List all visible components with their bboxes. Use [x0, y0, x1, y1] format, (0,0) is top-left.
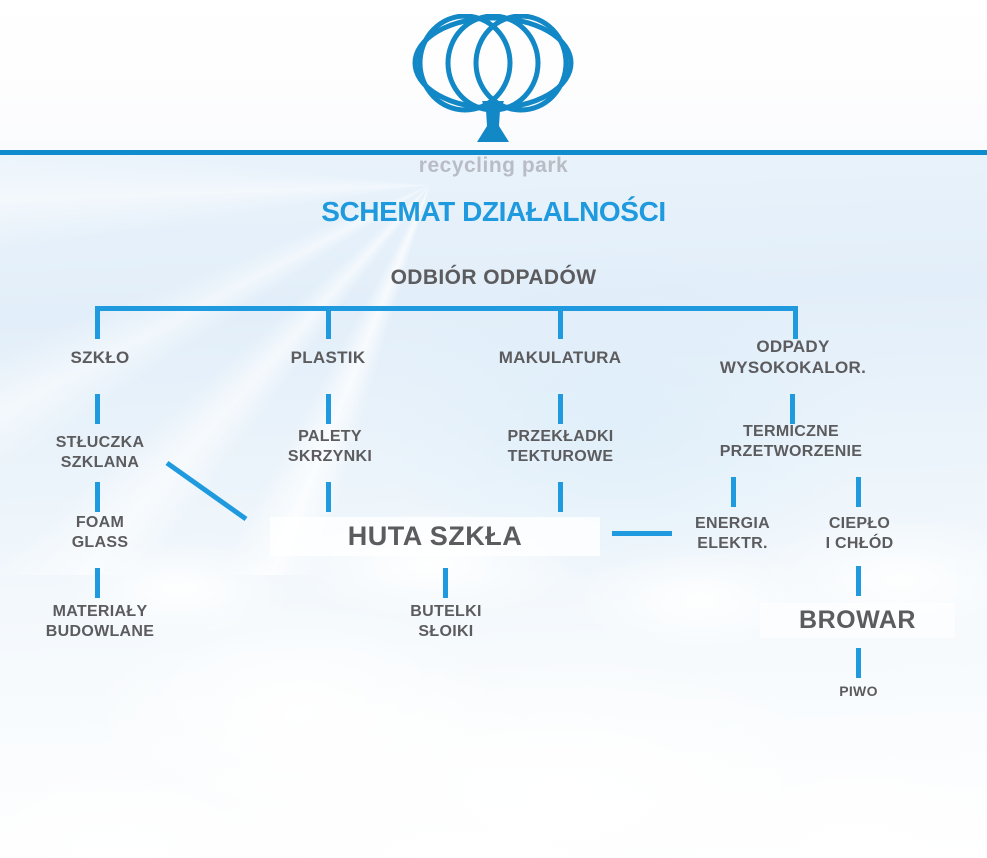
node-odpady-wysokokalor: ODPADY WYSOKOKALOR. — [693, 337, 893, 378]
connector-szklo-to-stluczka — [95, 394, 100, 424]
connector-root-to-plastik — [326, 306, 331, 339]
connector-termiczne-to-energia — [731, 477, 736, 507]
node-makulatura: MAKULATURA — [470, 348, 650, 369]
node-przekladki-tekturowe: PRZEKŁADKI TEKTUROWE — [473, 427, 648, 466]
node-piwo: PIWO — [786, 683, 931, 700]
connector-foamglass-to-materialy — [95, 568, 100, 598]
page-root: recycling park SCHEMAT DZIAŁALNOŚCI ODBI… — [0, 0, 987, 858]
connector-odpady-to-termiczne — [790, 394, 795, 424]
node-szklo: SZKŁO — [30, 348, 170, 369]
root-horizontal-connector — [95, 306, 798, 311]
connector-cieplo-to-browar — [856, 566, 861, 596]
connector-makulatura-to-przekladki — [558, 394, 563, 424]
connector-root-to-odpady — [793, 306, 798, 339]
connector-huta-to-butelki — [443, 568, 448, 598]
connector-przekladki-to-huta — [558, 482, 563, 512]
node-foam-glass: FOAM GLASS — [20, 513, 180, 552]
connector-stluczka-to-foamglass — [95, 482, 100, 512]
node-materialy-budowlane: MATERIAŁY BUDOWLANE — [10, 602, 190, 641]
connector-root-to-szklo — [95, 306, 100, 339]
connector-palety-to-huta — [326, 482, 331, 512]
tree-logo-icon — [403, 14, 583, 142]
connector-root-to-makulatura — [558, 306, 563, 339]
node-huta-szkla: HUTA SZKŁA — [270, 517, 600, 556]
connector-browar-to-piwo — [856, 648, 861, 678]
connector-termiczne-to-cieplo — [856, 477, 861, 507]
node-termiczne-przetworzenie: TERMICZNE PRZETWORZENIE — [695, 422, 887, 461]
node-butelki-sloiki: BUTELKI SŁOIKI — [366, 602, 526, 641]
node-cieplo-i-chlod: CIEPŁO I CHŁÓD — [782, 514, 937, 553]
connector-plastik-to-palety — [326, 394, 331, 424]
node-plastik: PLASTIK — [258, 348, 398, 369]
node-palety-skrzynki: PALETY SKRZYNKI — [245, 427, 415, 466]
activity-diagram: SZKŁO PLASTIK MAKULATURA ODPADY WYSOKOKA… — [0, 155, 987, 858]
node-browar: BROWAR — [760, 603, 955, 638]
